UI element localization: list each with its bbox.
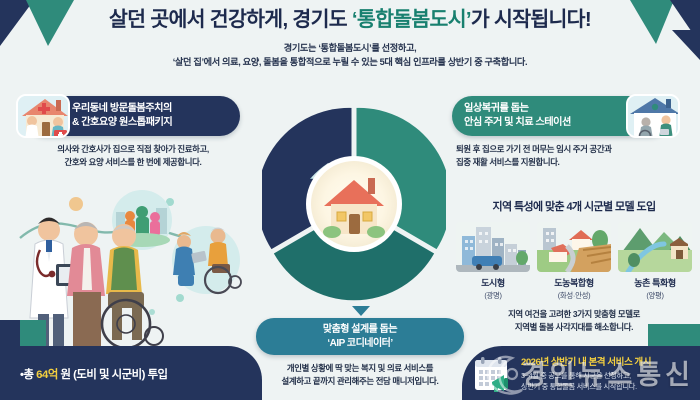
- card-visiting-care-title: 우리동네 방문돌봄주치의 & 간호요양 원스톱패키지: [72, 102, 172, 130]
- budget-suffix: 원 (도비 및 시군비) 투입: [58, 369, 168, 381]
- card-visiting-care-description: 의사와 간호사가 집으로 직접 찾아가 진료하고, 간호와 요양 서비스를 한 …: [26, 143, 240, 168]
- card-care-station-title: 일상복귀를 돕는 안심 주거 및 치료 스테이션: [464, 102, 571, 130]
- calendar-megaphone-icon: [474, 356, 514, 392]
- model-item-urban[interactable]: 도시형 (광명): [456, 222, 530, 301]
- model-item-rural-name: 농촌 특화형: [618, 276, 692, 289]
- launch-schedule-line-1: 3~4월 중 공모를 통해 시군을 선정하고,: [521, 371, 651, 380]
- panel-tab-teal: [648, 324, 700, 346]
- card-care-station[interactable]: 일상복귀를 돕는 안심 주거 및 치료 스테이션 퇴원 후 집으로 가기 전: [452, 96, 670, 168]
- band-tab-navy: [0, 320, 20, 346]
- card-aip-coordinator-description: 개인별 상황에 딱 맞는 복지 및 의료 서비스를 설계하고 끝까지 관리해주는…: [256, 362, 464, 387]
- card-visiting-care[interactable]: 우리동네 방문돌봄주치의 & 간호요양 원스톱패키지 의사와 간호사가 집으로 …: [26, 96, 240, 168]
- model-item-mixed-sub: (화성·안성): [537, 290, 611, 301]
- budget-prefix: 총: [24, 369, 37, 381]
- subhead-line-1: 경기도는 ‘통합돌봄도시’를 선정하고,: [0, 41, 700, 55]
- budget-band: •총 64억 원 (도비 및 시군비) 투입: [0, 346, 262, 400]
- house-wheelchair-icon: [626, 94, 680, 138]
- page-title: 살던 곳에서 건강하게, 경기도 ‘통합돌봄도시’가 시작됩니다!: [0, 8, 700, 32]
- budget-text: •총 64억 원 (도비 및 시군비) 투입: [0, 366, 168, 382]
- headline-highlight: ‘통합돌봄도시’: [352, 8, 471, 31]
- model-item-urban-sub: (광명): [456, 290, 530, 301]
- card-aip-coordinator-pill[interactable]: 맞춤형 설계를 돕는 ‘AIP 코디네이터’: [256, 318, 464, 355]
- chevron-down-icon: [352, 306, 370, 316]
- model-item-mixed[interactable]: 도농복합형 (화성·안성): [537, 222, 611, 301]
- budget-amount: 64억: [36, 369, 58, 381]
- nurse-wheelchair-bubble-icon: [172, 226, 241, 294]
- card-care-station-pill[interactable]: 일상복귀를 돕는 안심 주거 및 치료 스테이션: [452, 96, 670, 136]
- launch-schedule-text: 2026년 상반기 내 본격 서비스 개시 3~4월 중 공모를 통해 시군을 …: [521, 357, 651, 391]
- care-wheel-diagram: [262, 104, 446, 304]
- suburban-farm-icon: [537, 222, 611, 272]
- model-item-urban-name: 도시형: [456, 276, 530, 289]
- infographic-poster: 살던 곳에서 건강하게, 경기도 ‘통합돌봄도시’가 시작됩니다! 경기도는 ‘…: [0, 0, 700, 400]
- subhead-line-2: ‘살던 집’에서 의료, 요양, 돌봄을 통합적으로 누릴 수 있는 5대 핵심…: [0, 55, 700, 69]
- regional-models-row: 도시형 (광명): [452, 222, 696, 301]
- launch-schedule-title: 2026년 상반기 내 본격 서비스 개시: [521, 357, 651, 369]
- regional-models-section: 지역 특성에 맞춘 4개 시군별 모델 도입: [452, 198, 696, 333]
- regional-models-title: 지역 특성에 맞춘 4개 시군별 모델 도입: [452, 198, 696, 214]
- launch-schedule-line-2: 상반기 중 통합돌봄 서비스를 시작합니다.: [521, 382, 651, 391]
- headline-pre: 살던 곳에서 건강하게, 경기도: [109, 8, 352, 31]
- poster-subheading: 경기도는 ‘통합돌봄도시’를 선정하고, ‘살던 집’에서 의료, 요양, 돌봄…: [0, 41, 700, 70]
- card-aip-coordinator[interactable]: 맞춤형 설계를 돕는 ‘AIP 코디네이터’ 개인별 상황에 딱 맞는 복지 및…: [256, 318, 464, 387]
- rural-mountain-icon: [618, 222, 692, 272]
- card-visiting-care-pill[interactable]: 우리동네 방문돌봄주치의 & 간호요양 원스톱패키지: [26, 96, 240, 136]
- poster-header: 살던 곳에서 건강하게, 경기도 ‘통합돌봄도시’가 시작됩니다! 경기도는 ‘…: [0, 8, 700, 69]
- model-item-rural[interactable]: 농촌 특화형 (양평): [618, 222, 692, 301]
- headline-post: 가 시작됩니다!: [471, 8, 591, 31]
- house-doctor-icon: [16, 94, 70, 138]
- launch-schedule-panel: 2026년 상반기 내 본격 서비스 개시 3~4월 중 공모를 통해 시군을 …: [462, 346, 700, 400]
- city-buildings-icon: [456, 222, 530, 272]
- card-aip-coordinator-title: 맞춤형 설계를 돕는 ‘AIP 코디네이터’: [323, 323, 397, 350]
- grandmother-figure-icon: [67, 222, 105, 350]
- model-item-rural-sub: (양평): [618, 290, 692, 301]
- card-care-station-description: 퇴원 후 집으로 가기 전 머무는 임시 주거 공간과 집중 재활 서비스를 지…: [452, 143, 670, 168]
- model-item-mixed-name: 도농복합형: [537, 276, 611, 289]
